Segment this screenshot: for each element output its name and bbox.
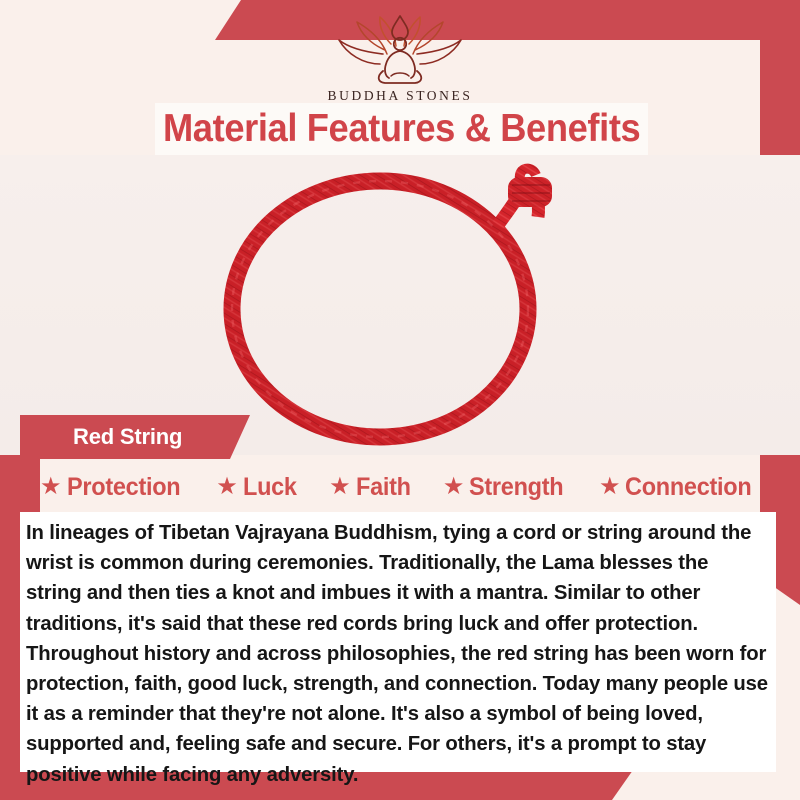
feature-label: Luck	[243, 473, 297, 502]
product-tag: Red String	[20, 415, 250, 459]
description-text: In lineages of Tibetan Vajrayana Buddhis…	[26, 518, 768, 790]
description-panel: In lineages of Tibetan Vajrayana Buddhis…	[20, 512, 776, 772]
feature-item-strength: ★ Strength	[443, 473, 570, 502]
red-string-bracelet-illustration	[180, 155, 600, 447]
feature-label: Strength	[469, 473, 563, 502]
product-tag-label: Red String	[73, 424, 182, 450]
star-icon: ★	[216, 475, 238, 499]
star-icon: ★	[443, 475, 465, 499]
product-image	[0, 155, 800, 455]
feature-label: Protection	[67, 473, 180, 502]
lotus-meditation-icon	[325, 14, 475, 86]
star-icon: ★	[40, 475, 62, 499]
feature-item-protection: ★ Protection	[40, 473, 187, 502]
page-title: Material Features & Benefits	[163, 107, 640, 151]
feature-item-connection: ★ Connection	[599, 473, 760, 502]
feature-list: ★ Protection ★ Luck ★ Faith ★ Strength ★…	[40, 468, 760, 506]
feature-item-faith: ★ Faith	[329, 473, 414, 502]
feature-item-luck: ★ Luck	[216, 473, 300, 502]
feature-label: Connection	[625, 473, 751, 502]
brand-logo: BUDDHA STONES	[0, 14, 800, 104]
star-icon: ★	[599, 475, 621, 499]
page-title-bar: Material Features & Benefits	[155, 103, 648, 155]
brand-name: BUDDHA STONES	[328, 88, 473, 104]
feature-label: Faith	[356, 473, 411, 502]
star-icon: ★	[329, 475, 351, 499]
infographic-canvas: BUDDHA STONES Material Features & Benefi…	[0, 0, 800, 800]
